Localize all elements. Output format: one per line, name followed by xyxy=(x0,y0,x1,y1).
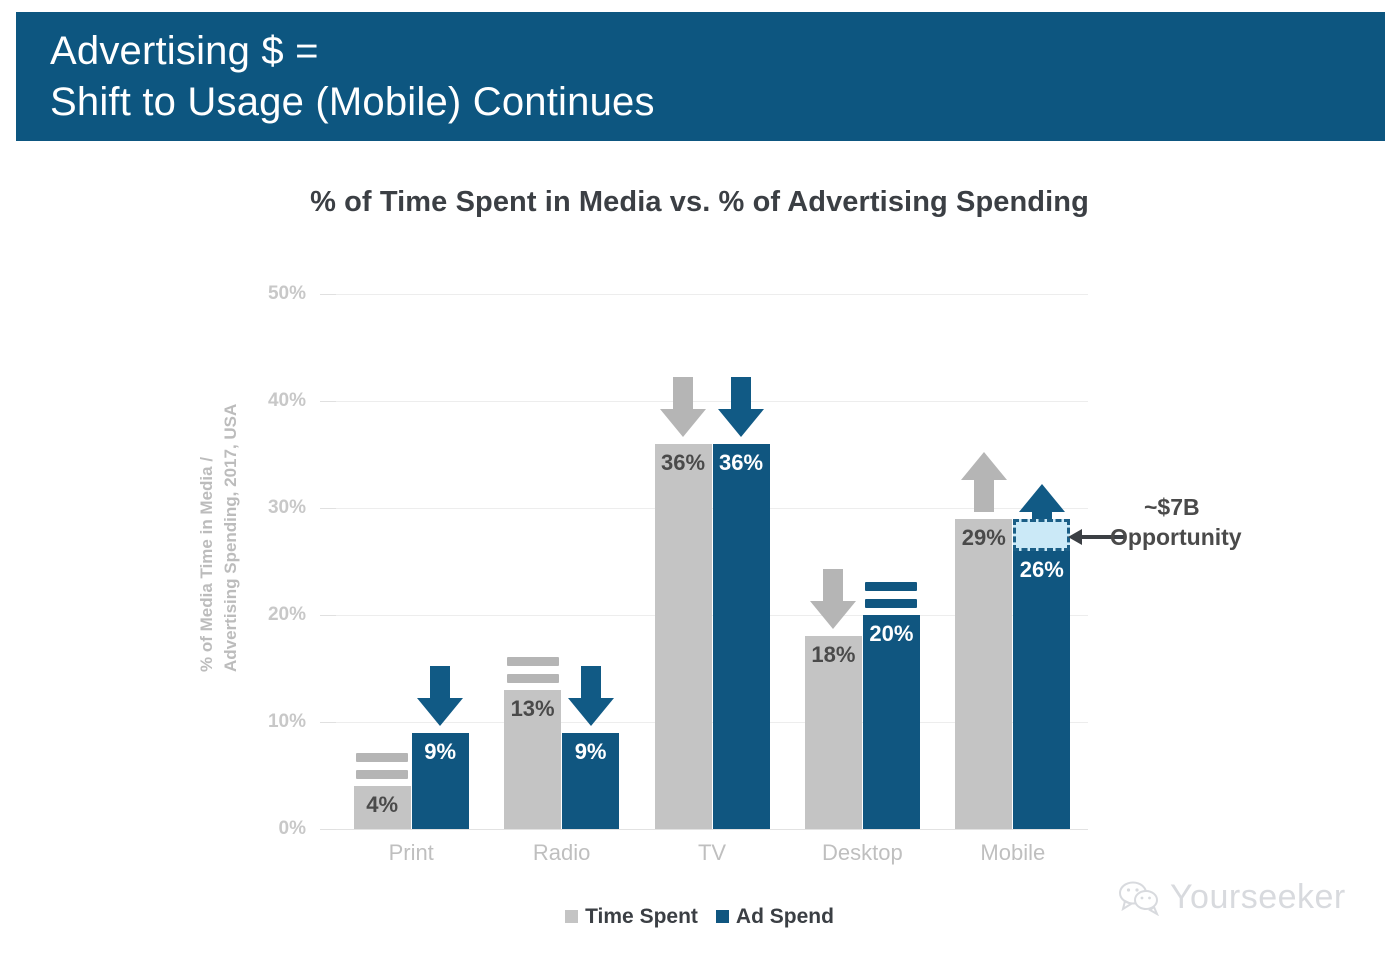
bar-desktop-ad-spend[interactable]: 20% xyxy=(863,615,920,829)
bar-mobile-ad-spend[interactable]: 26% xyxy=(1013,551,1070,829)
equal-marker-icon xyxy=(356,753,408,779)
bar-tv-ad-spend[interactable]: 36% xyxy=(713,444,770,829)
y-axis-tick-label: 20% xyxy=(246,604,306,626)
y-axis-tick-label: 10% xyxy=(246,711,306,733)
bar-value-label: 29% xyxy=(955,525,1012,551)
bar-radio-time-spent[interactable]: 13% xyxy=(504,690,561,829)
bar-radio-ad-spend[interactable]: 9% xyxy=(562,733,619,829)
y-axis-tick xyxy=(320,508,336,509)
up-arrow-icon xyxy=(961,452,1007,512)
watermark-text: Yourseeker xyxy=(1170,878,1346,917)
bar-value-label: 20% xyxy=(863,621,920,647)
y-axis-tick xyxy=(320,294,336,295)
legend-label: Ad Spend xyxy=(736,905,834,928)
x-axis-label-desktop: Desktop xyxy=(782,840,942,866)
watermark: Yourseeker xyxy=(1118,878,1346,917)
x-axis-label-mobile: Mobile xyxy=(933,840,1093,866)
gridline xyxy=(336,829,1088,830)
down-arrow-icon xyxy=(568,666,614,726)
y-axis-tick xyxy=(320,829,336,830)
x-axis-label-print: Print xyxy=(331,840,491,866)
opportunity-amount: ~$7B xyxy=(1110,492,1350,522)
down-arrow-icon xyxy=(417,666,463,726)
legend-label: Time Spent xyxy=(585,905,698,928)
bar-value-label: 36% xyxy=(713,450,770,476)
y-axis-tick xyxy=(320,615,336,616)
legend-item-time-spent[interactable]: Time Spent xyxy=(565,905,698,929)
down-arrow-icon xyxy=(810,569,856,629)
bar-print-time-spent[interactable]: 4% xyxy=(354,786,411,829)
bar-value-label: 36% xyxy=(655,450,712,476)
bar-desktop-time-spent[interactable]: 18% xyxy=(805,636,862,829)
legend-item-ad-spend[interactable]: Ad Spend xyxy=(716,905,834,929)
y-axis-title: % of Media Time in Media / Advertising S… xyxy=(178,340,240,680)
bar-value-label: 18% xyxy=(805,642,862,668)
bar-value-label: 26% xyxy=(1013,557,1070,583)
y-axis-tick xyxy=(320,401,336,402)
y-axis-tick-label: 30% xyxy=(246,497,306,519)
wechat-bubbles-icon xyxy=(1118,880,1162,916)
equal-marker-icon xyxy=(865,582,917,608)
y-axis-tick xyxy=(320,722,336,723)
opportunity-highlight-box xyxy=(1013,519,1070,551)
legend-swatch-icon xyxy=(565,910,578,923)
chart-plot-area: % of Media Time in Media / Advertising S… xyxy=(0,0,1399,960)
bar-value-label: 4% xyxy=(354,792,411,818)
x-axis-label-radio: Radio xyxy=(482,840,642,866)
down-arrow-icon xyxy=(718,377,764,437)
gridline xyxy=(336,401,1088,402)
y-axis-title-line-1: % of Media Time in Media / xyxy=(197,457,217,672)
down-arrow-icon xyxy=(660,377,706,437)
bar-mobile-time-spent[interactable]: 29% xyxy=(955,519,1012,829)
bar-value-label: 9% xyxy=(562,739,619,765)
opportunity-label: Opportunity xyxy=(1110,522,1350,552)
y-axis-title-line-2: Advertising Spending, 2017, USA xyxy=(221,404,241,672)
bar-value-label: 13% xyxy=(504,696,561,722)
legend-swatch-icon xyxy=(716,910,729,923)
y-axis-tick-label: 50% xyxy=(246,283,306,305)
gridline xyxy=(336,294,1088,295)
bar-tv-time-spent[interactable]: 36% xyxy=(655,444,712,829)
bar-print-ad-spend[interactable]: 9% xyxy=(412,733,469,829)
bar-value-label: 9% xyxy=(412,739,469,765)
equal-marker-icon xyxy=(507,657,559,683)
opportunity-annotation: ~$7B Opportunity xyxy=(1110,492,1350,552)
y-axis-tick-label: 40% xyxy=(246,390,306,412)
y-axis-tick-label: 0% xyxy=(246,818,306,840)
x-axis-label-tv: TV xyxy=(632,840,792,866)
